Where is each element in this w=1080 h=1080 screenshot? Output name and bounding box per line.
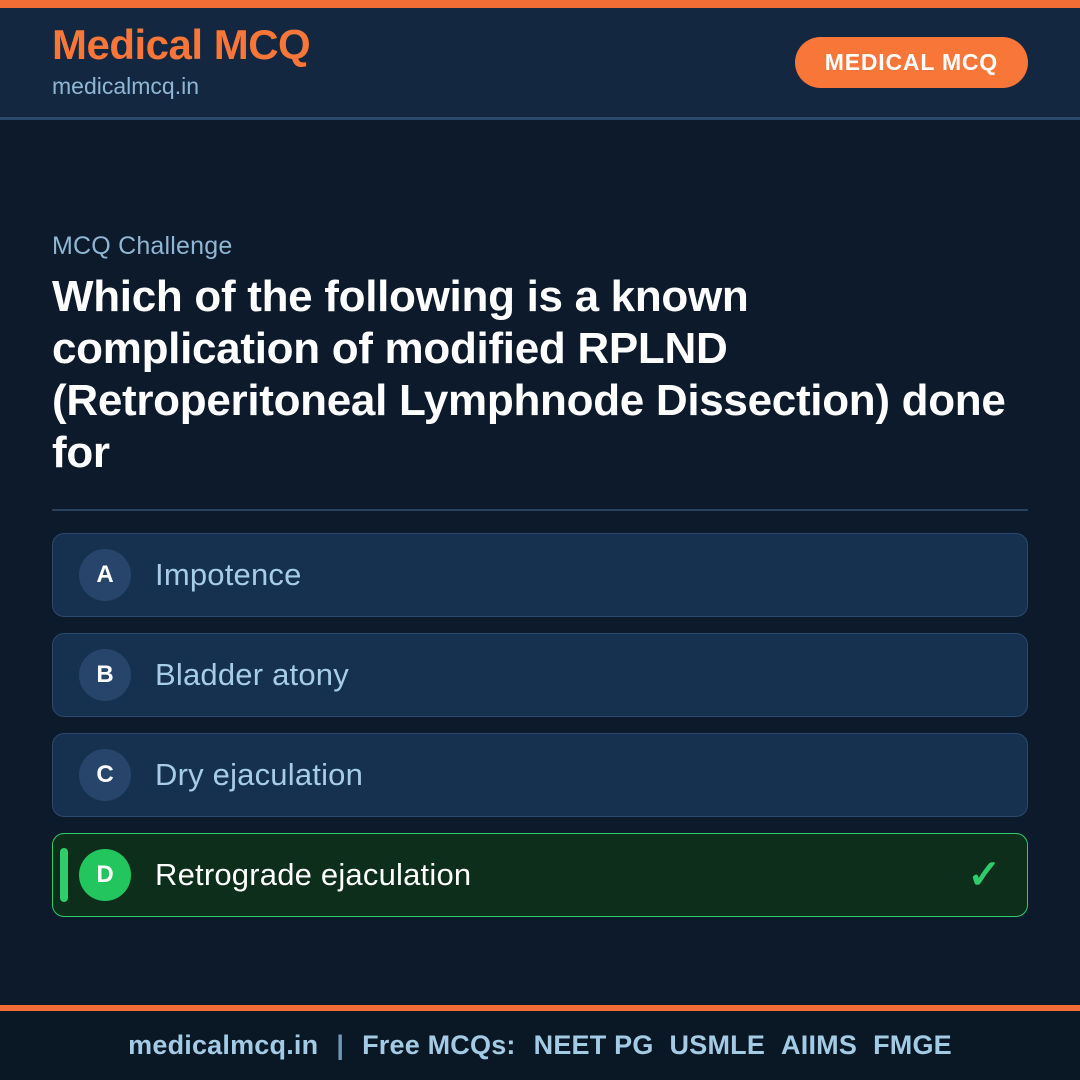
section-divider <box>52 509 1028 511</box>
option-d[interactable]: DRetrograde ejaculation✓ <box>52 833 1028 917</box>
top-accent-rule <box>0 0 1080 8</box>
option-b[interactable]: BBladder atony✓ <box>52 633 1028 717</box>
footer-bar: medicalmcq.in | Free MCQs: NEET PGUSMLEA… <box>0 1011 1080 1080</box>
option-label: Dry ejaculation <box>155 757 363 793</box>
option-letter-badge: C <box>79 749 131 801</box>
header-bar: Medical MCQ medicalmcq.in MEDICAL MCQ <box>0 8 1080 120</box>
footer-separator: | <box>336 1030 344 1061</box>
option-c[interactable]: CDry ejaculation✓ <box>52 733 1028 817</box>
brand-block: Medical MCQ medicalmcq.in <box>52 23 310 102</box>
option-letter-badge: A <box>79 549 131 601</box>
option-letter-badge: B <box>79 649 131 701</box>
header-badge: MEDICAL MCQ <box>795 37 1028 88</box>
kicker-label: MCQ Challenge <box>52 232 1028 261</box>
option-label: Bladder atony <box>155 657 349 693</box>
options-list: AImpotence✓BBladder atony✓CDry ejaculati… <box>52 533 1028 917</box>
question-text: Which of the following is a known compli… <box>52 271 1028 479</box>
footer-exam-item: AIIMS <box>781 1030 857 1061</box>
correct-accent-bar <box>60 848 68 902</box>
option-letter-badge: D <box>79 849 131 901</box>
brand-title: Medical MCQ <box>52 23 310 67</box>
footer-exam-list: NEET PGUSMLEAIIMSFMGE <box>534 1030 952 1061</box>
main-content: MCQ Challenge Which of the following is … <box>0 120 1080 1005</box>
footer-site: medicalmcq.in <box>128 1030 318 1061</box>
footer-exam-item: USMLE <box>670 1030 766 1061</box>
footer-label: Free MCQs: <box>362 1030 516 1061</box>
footer-exam-item: FMGE <box>873 1030 952 1061</box>
footer-exam-item: NEET PG <box>534 1030 654 1061</box>
option-a[interactable]: AImpotence✓ <box>52 533 1028 617</box>
check-icon: ✓ <box>967 855 1001 895</box>
mcq-card: Medical MCQ medicalmcq.in MEDICAL MCQ MC… <box>0 0 1080 1080</box>
option-label: Impotence <box>155 557 302 593</box>
option-label: Retrograde ejaculation <box>155 857 471 893</box>
brand-website: medicalmcq.in <box>52 70 310 102</box>
